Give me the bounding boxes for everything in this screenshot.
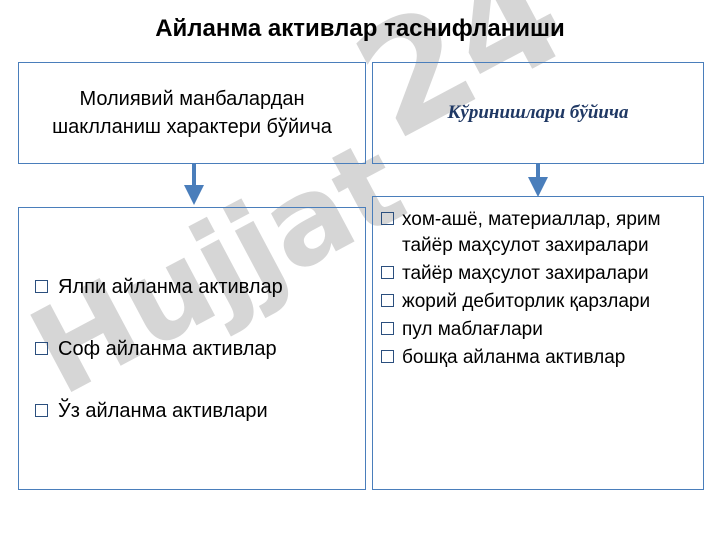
list-item: Соф айланма активлар [35,336,355,362]
list-item-label: Ўз айланма активлари [58,398,355,424]
box-kind-label: Кўринишлари бўйича [448,102,629,124]
list-item: бошқа айланма активлар [381,345,697,371]
page-title: Айланма активлар таснифланиши [0,15,720,43]
square-bullet-icon [381,294,394,307]
square-bullet-icon [35,342,48,355]
square-bullet-icon [381,266,394,279]
list-item: Ялпи айланма активлар [35,274,355,300]
list-item-label: пул маблағлари [402,317,697,343]
box-asset-kinds: хом-ашё, материаллар, ярим тайёр маҳсуло… [372,196,704,490]
list-item-label: Ялпи айланма активлар [58,274,355,300]
square-bullet-icon [381,212,394,225]
list-item: Ўз айланма активлари [35,398,355,424]
list-item: тайёр маҳсулот захиралари [381,261,697,287]
list-item: пул маблағлари [381,317,697,343]
square-bullet-icon [35,280,48,293]
list-item-label: хом-ашё, материаллар, ярим тайёр маҳсуло… [402,207,697,259]
box-financial-source: Молиявий манбалардан шаклланиш характери… [18,62,366,164]
box-gross-net-own-assets: Ялпи айланма активлар Соф айланма активл… [18,207,366,490]
list-item-label: тайёр маҳсулот захиралари [402,261,697,287]
box-financial-source-label: Молиявий манбалардан шаклланиш характери… [19,85,365,141]
square-bullet-icon [381,350,394,363]
list-item-label: Соф айланма активлар [58,336,355,362]
down-arrow-icon-left [172,163,216,209]
square-bullet-icon [381,322,394,335]
slide-root: Айланма активлар таснифланиши Молиявий м… [0,0,720,540]
right-list: хом-ашё, материаллар, ярим тайёр маҳсуло… [373,197,703,373]
list-item: хом-ашё, материаллар, ярим тайёр маҳсуло… [381,207,697,259]
list-item-label: жорий дебиторлик қарзлари [402,289,697,315]
list-item: жорий дебиторлик қарзлари [381,289,697,315]
box-kind: Кўринишлари бўйича [372,62,704,164]
square-bullet-icon [35,404,48,417]
list-item-label: бошқа айланма активлар [402,345,697,371]
left-list: Ялпи айланма активлар Соф айланма активл… [19,274,365,424]
